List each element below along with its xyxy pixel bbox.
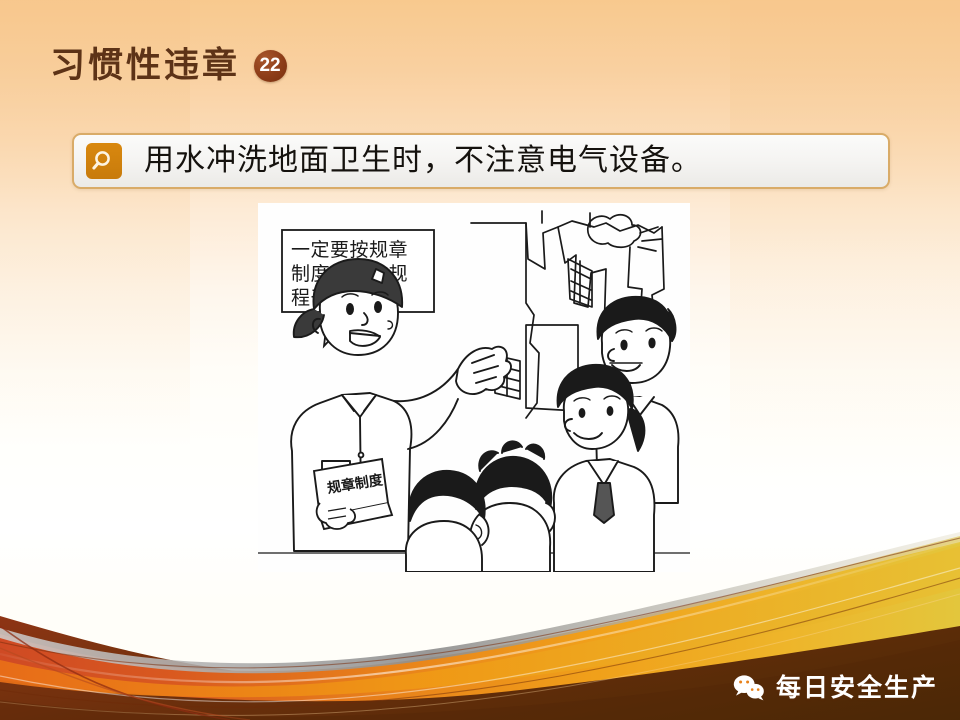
background-tint-left [0,0,190,620]
status-badge: 22 [254,50,287,82]
slide-title-row: 习惯性违章 22 [50,48,287,83]
statement-banner: 用水冲洗地面卫生时，不注意电气设备。 [72,133,890,189]
page-title: 习惯性违章 [50,48,240,83]
illustration-cartoon: 一定要按规章 制度和操作规 程干！ [258,203,690,572]
footer-account-name: 每日安全生产 [776,675,938,700]
footer-watermark: 每日安全生产 [732,673,938,702]
wechat-icon [732,673,766,702]
search-icon [86,143,122,179]
slide-canvas: 习惯性违章 22 用水冲洗地面卫生时，不注意电气设备。 [0,0,960,720]
statement-text: 用水冲洗地面卫生时，不注意电气设备。 [144,146,702,176]
svg-text:一定要按规章: 一定要按规章 [291,239,408,261]
